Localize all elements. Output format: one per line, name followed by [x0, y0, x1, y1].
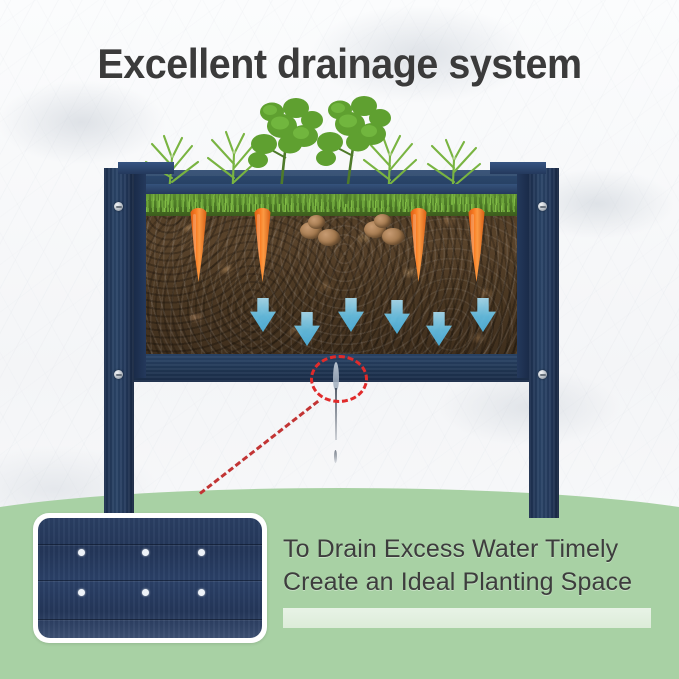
plank-line	[38, 619, 262, 620]
top-cap-right	[490, 162, 546, 174]
right-corner-post	[529, 168, 559, 384]
drain-hole	[78, 549, 85, 556]
drain-hole	[142, 589, 149, 596]
inner-right-upright	[517, 172, 529, 378]
front-top-rail	[118, 184, 548, 194]
soil-cutaway	[142, 190, 524, 362]
right-leg	[529, 384, 559, 518]
left-corner-post	[104, 168, 134, 384]
screw	[538, 202, 547, 211]
base-panel	[38, 518, 262, 638]
inner-left-upright	[134, 172, 146, 378]
plank-line	[38, 544, 262, 545]
drain-hole	[198, 549, 205, 556]
screw	[114, 202, 123, 211]
screw	[114, 370, 123, 379]
panel-wood-grain	[38, 518, 262, 638]
left-leg	[104, 384, 134, 518]
tagline-underbar	[283, 608, 651, 628]
raised-garden-bed	[104, 168, 559, 518]
screw	[538, 370, 547, 379]
potato-tuber	[308, 215, 325, 229]
drain-hole	[78, 589, 85, 596]
potato-tuber	[382, 228, 404, 245]
potato-tuber	[374, 214, 391, 228]
page-title: Excellent drainage system	[20, 40, 658, 88]
highlight-circle	[310, 355, 368, 403]
tagline-line-1: To Drain Excess Water Timely	[283, 533, 673, 566]
plank-line	[38, 580, 262, 581]
tagline: To Drain Excess Water Timely Create an I…	[283, 533, 673, 599]
top-cap-left	[118, 162, 174, 174]
drain-hole	[198, 589, 205, 596]
marketing-image: Excellent drainage system	[0, 0, 679, 679]
drip-droplet	[334, 450, 337, 463]
tagline-line-2: Create an Ideal Planting Space	[283, 566, 673, 599]
potato-tuber	[318, 229, 340, 246]
inset-photo-base-panel	[33, 513, 267, 643]
drain-hole	[142, 549, 149, 556]
